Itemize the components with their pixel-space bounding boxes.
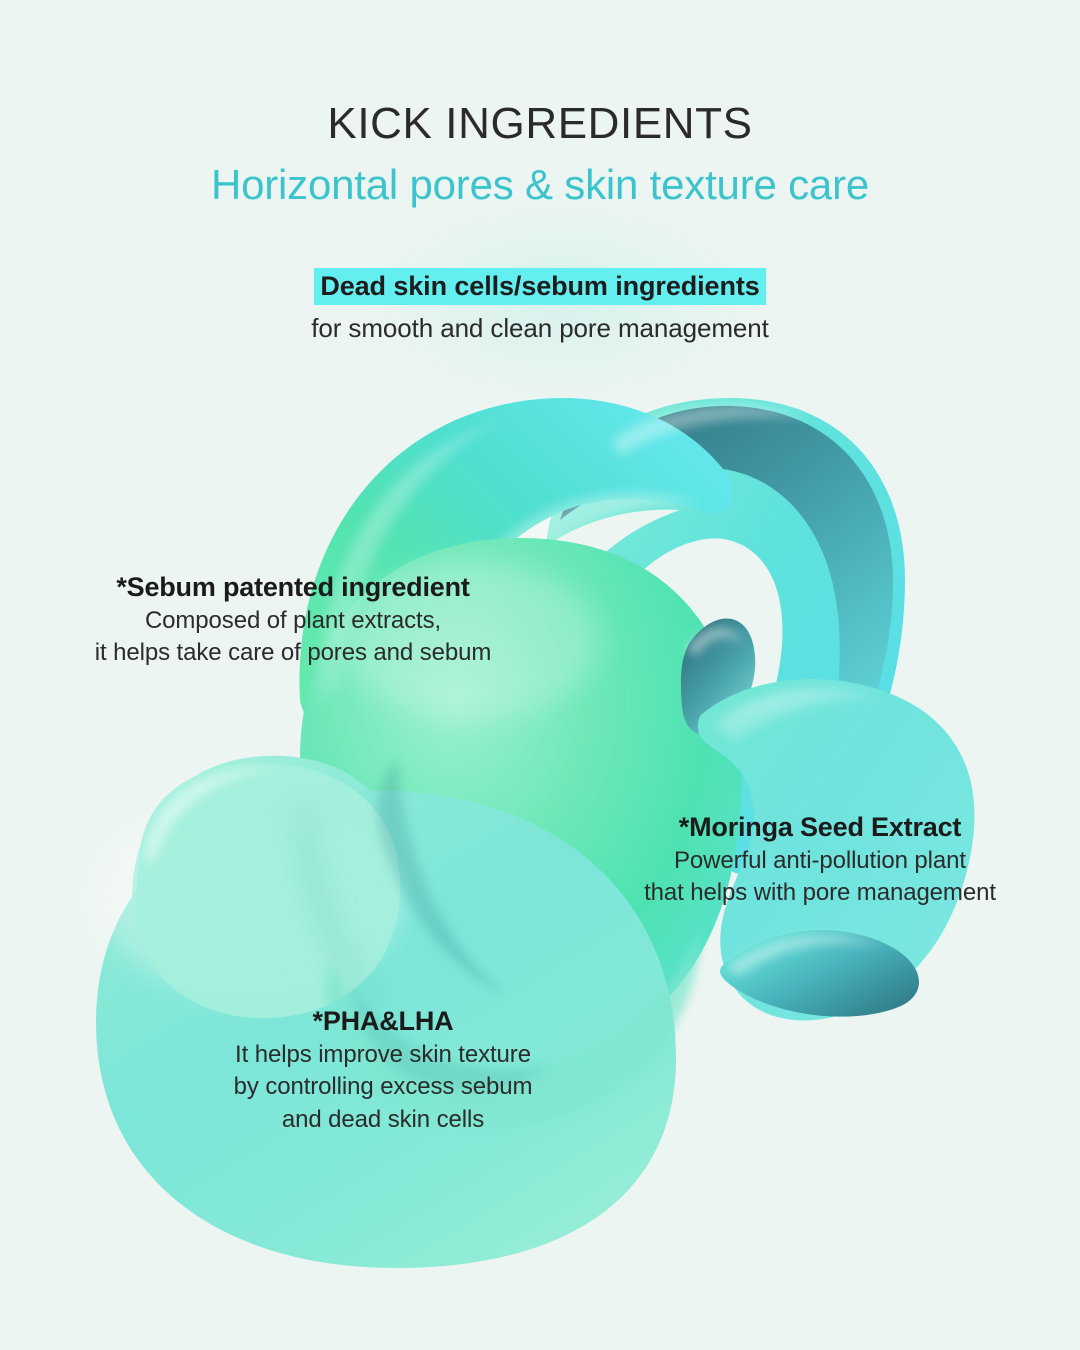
callout-sebum-line-1: Composed of plant extracts, <box>0 604 586 636</box>
callout-phalha-title: *PHA&LHA <box>148 1006 618 1038</box>
lead-subtitle: for smooth and clean pore management <box>0 305 1080 344</box>
callout-moringa: *Moringa Seed Extract Powerful anti-poll… <box>600 812 1040 909</box>
callout-moringa-line-1: Powerful anti-pollution plant <box>600 844 1040 876</box>
callout-phalha: *PHA&LHA It helps improve skin texture b… <box>148 1006 618 1135</box>
page-subtitle: Horizontal pores & skin texture care <box>0 147 1080 208</box>
lead-highlight-wrap: Dead skin cells/sebum ingredients <box>0 268 1080 305</box>
infographic-page: KICK INGREDIENTS Horizontal pores & skin… <box>0 0 1080 1350</box>
callout-phalha-line-2: by controlling excess sebum <box>148 1070 618 1102</box>
highlighted-statement: Dead skin cells/sebum ingredients <box>314 268 765 305</box>
callout-sebum-line-2: it helps take care of pores and sebum <box>0 636 586 668</box>
callout-moringa-title: *Moringa Seed Extract <box>600 812 1040 844</box>
lead-block: Dead skin cells/sebum ingredients for sm… <box>0 268 1080 344</box>
header: KICK INGREDIENTS Horizontal pores & skin… <box>0 0 1080 208</box>
callout-sebum: *Sebum patented ingredient Composed of p… <box>0 572 586 669</box>
callout-moringa-line-2: that helps with pore management <box>600 876 1040 908</box>
callout-sebum-title: *Sebum patented ingredient <box>0 572 586 604</box>
callout-phalha-line-1: It helps improve skin texture <box>148 1038 618 1070</box>
callout-phalha-line-3: and dead skin cells <box>148 1103 618 1135</box>
page-title: KICK INGREDIENTS <box>0 0 1080 147</box>
